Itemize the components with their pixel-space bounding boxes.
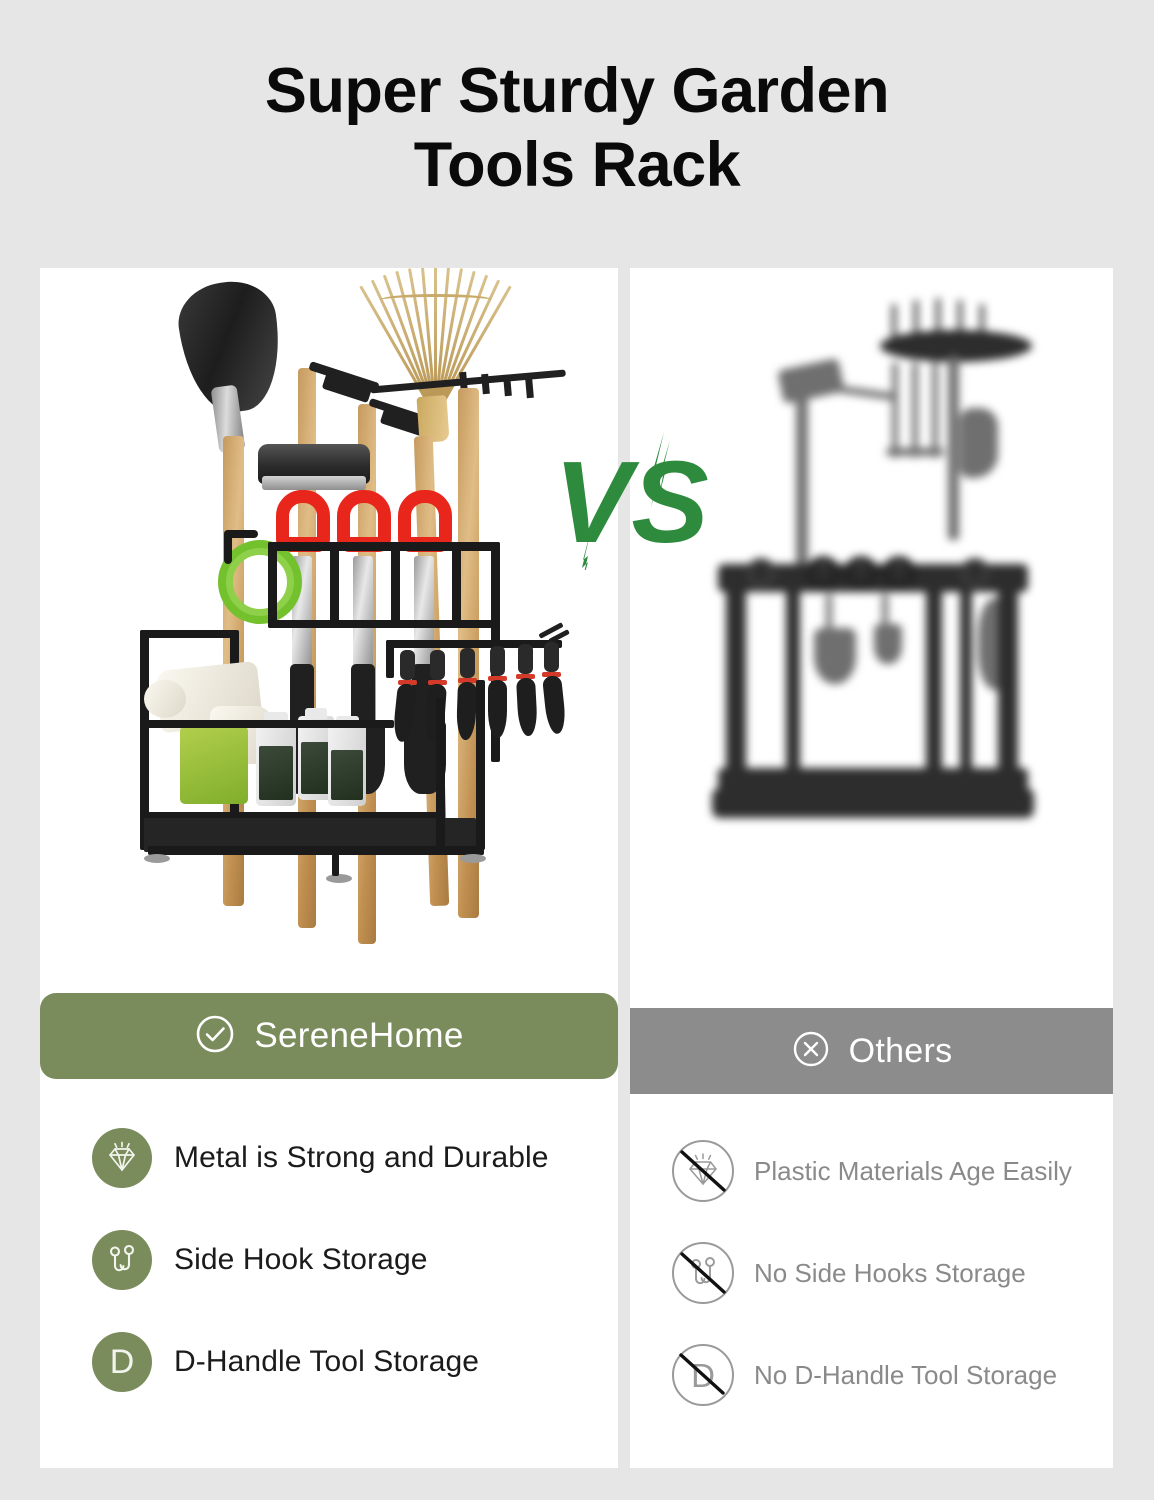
letter-d-glyph: D — [110, 1345, 135, 1379]
brand-product-image — [40, 268, 618, 990]
letter-d-icon: D — [92, 1332, 152, 1392]
feature-row-no-d-handle: D No D-Handle Tool Storage — [672, 1344, 1102, 1406]
feature-row-side-hook: Side Hook Storage — [92, 1230, 612, 1290]
others-banner: Others — [630, 1008, 1113, 1094]
brand-feature-list: Metal is Strong and Durable Side Hook St… — [92, 1128, 612, 1392]
others-feature-list: Plastic Materials Age Easily No Side Hoo… — [672, 1140, 1102, 1406]
feature-row-plastic-ages: Plastic Materials Age Easily — [672, 1140, 1102, 1202]
check-circle-icon — [194, 1013, 236, 1060]
feature-row-no-side-hooks: No Side Hooks Storage — [672, 1242, 1102, 1304]
diamond-icon — [92, 1128, 152, 1188]
versus-badge: VS — [552, 430, 722, 570]
comparison-infographic: Super Sturdy Garden Tools Rack — [0, 0, 1154, 1500]
page-title: Super Sturdy Garden Tools Rack — [0, 54, 1154, 203]
feature-label: No D-Handle Tool Storage — [754, 1360, 1057, 1391]
feature-row-d-handle: D D-Handle Tool Storage — [92, 1332, 612, 1392]
brand-banner: SereneHome — [40, 993, 618, 1079]
page-title-line-1: Super Sturdy Garden — [0, 54, 1154, 128]
double-hook-crossed-out-icon — [672, 1242, 734, 1304]
feature-label: Metal is Strong and Durable — [174, 1141, 549, 1175]
feature-label: Plastic Materials Age Easily — [754, 1156, 1072, 1187]
page-title-line-2: Tools Rack — [0, 128, 1154, 202]
letter-d-crossed-out-icon: D — [672, 1344, 734, 1406]
x-circle-icon — [791, 1029, 831, 1074]
versus-label: VS — [554, 437, 709, 567]
feature-row-metal-durable: Metal is Strong and Durable — [92, 1128, 612, 1188]
others-product-image — [630, 268, 1113, 990]
double-hook-icon — [92, 1230, 152, 1290]
feature-label: D-Handle Tool Storage — [174, 1345, 479, 1379]
feature-label: Side Hook Storage — [174, 1243, 428, 1277]
others-banner-label: Others — [849, 1032, 953, 1071]
diamond-crossed-out-icon — [672, 1140, 734, 1202]
feature-label: No Side Hooks Storage — [754, 1258, 1026, 1289]
brand-banner-label: SereneHome — [254, 1016, 463, 1056]
